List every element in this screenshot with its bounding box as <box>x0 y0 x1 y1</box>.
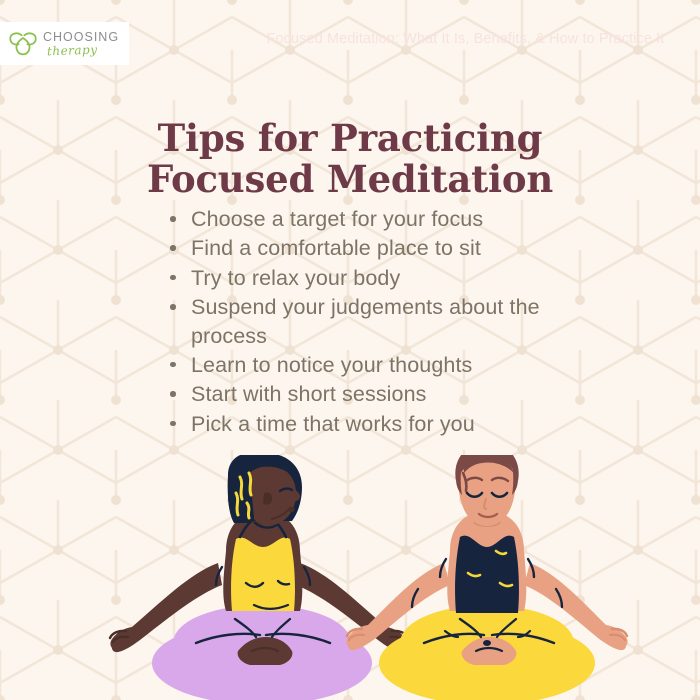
meditating-woman-left <box>110 455 408 700</box>
brand-wordmark: CHOOSING therapy <box>43 31 119 57</box>
mudra-hand-right-right-figure <box>601 625 628 648</box>
tips-list: Choose a target for your focus Find a co… <box>168 205 568 439</box>
mudra-hand-left <box>110 627 137 650</box>
brand-logo[interactable]: CHOOSING therapy <box>0 22 129 65</box>
meditation-illustration <box>0 455 700 700</box>
brand-name-secondary: therapy <box>47 43 123 58</box>
page-title-line-1: Tips for Practicing <box>70 118 630 159</box>
list-item: Find a comfortable place to sit <box>168 234 568 262</box>
list-item: Try to relax your body <box>168 264 568 292</box>
page-title-line-2: Focused Meditation <box>70 159 630 200</box>
list-item: Pick a time that works for you <box>168 410 568 438</box>
infographic-canvas: CHOOSING therapy Focused Meditation: Wha… <box>0 0 700 700</box>
meditating-woman-right <box>346 455 627 700</box>
list-item: Learn to notice your thoughts <box>168 351 568 379</box>
list-item: Start with short sessions <box>168 380 568 408</box>
brand-name-primary: CHOOSING <box>43 31 119 44</box>
mudra-hand-left-right-figure <box>346 625 373 648</box>
lotus-leaf-icon <box>8 29 38 59</box>
page-title: Tips for Practicing Focused Meditation <box>70 118 630 201</box>
list-item: Suspend your judgements about the proces… <box>168 293 568 350</box>
list-item: Choose a target for your focus <box>168 205 568 233</box>
article-header-title: Focused Meditation: What It Is, Benefits… <box>238 31 693 47</box>
